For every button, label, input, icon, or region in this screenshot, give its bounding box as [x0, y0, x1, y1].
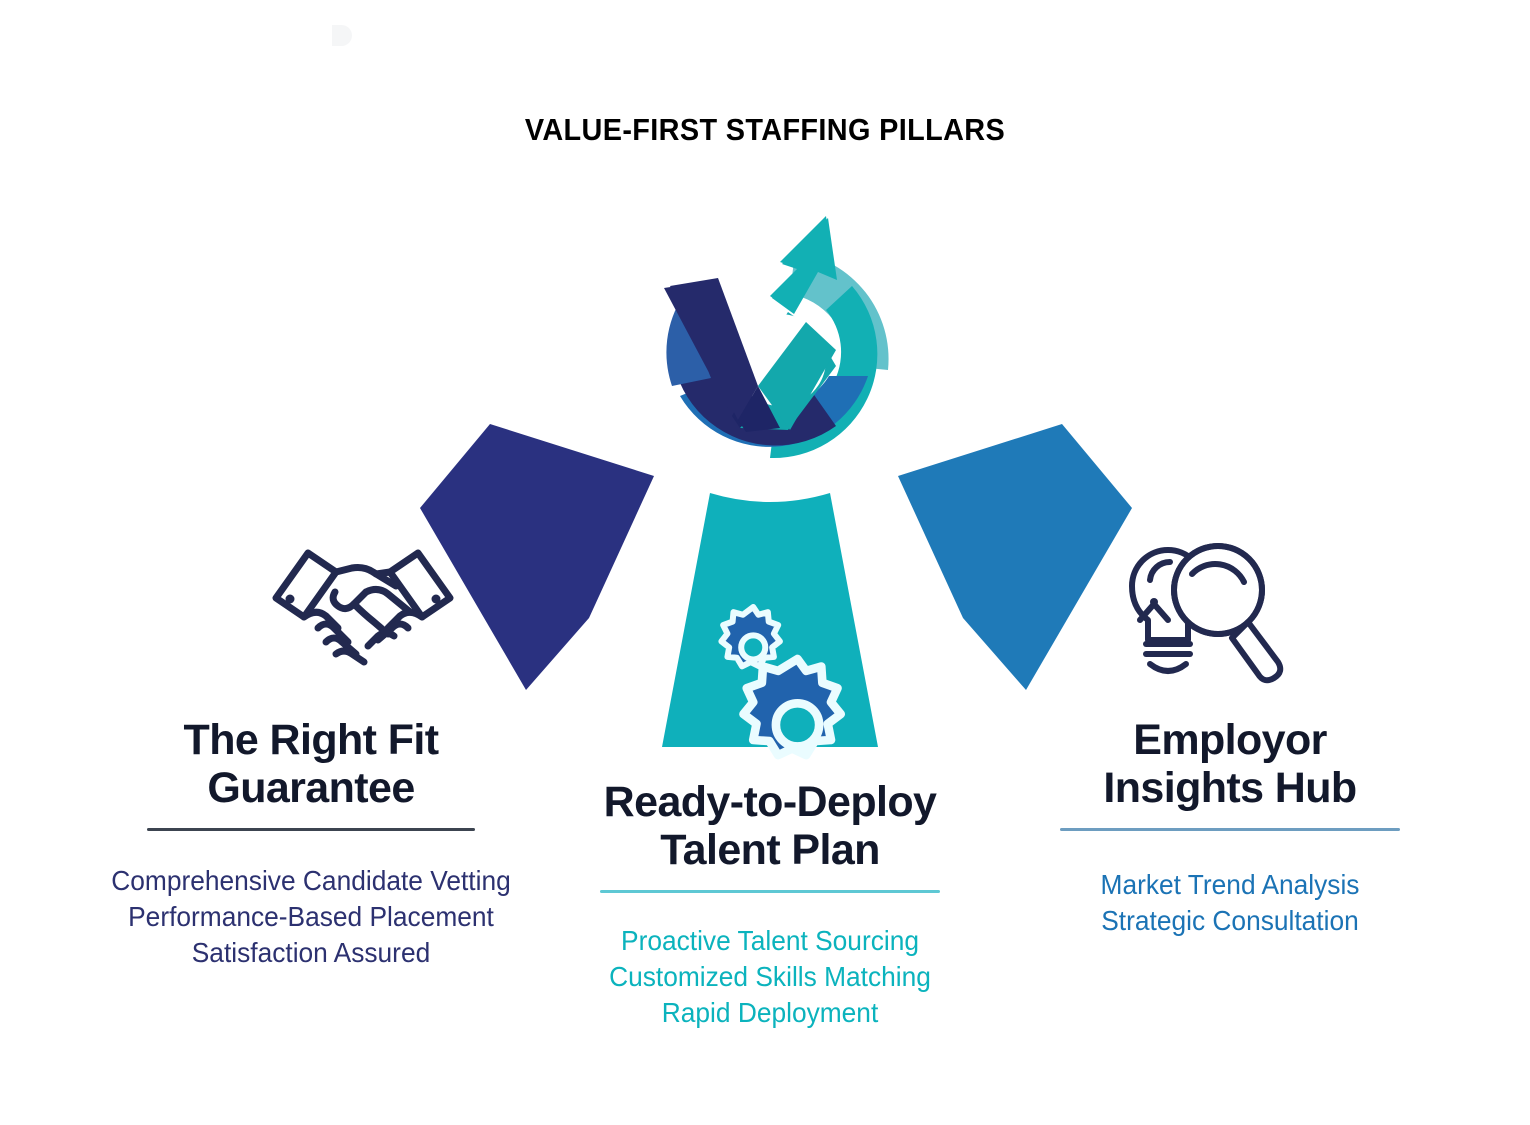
handshake-right-arm	[376, 572, 390, 574]
background-artifact	[332, 25, 352, 46]
pillar-employor-insights-heading: Employor Insights Hub	[1010, 716, 1450, 812]
body-line-1: Market Trend Analysis	[1023, 867, 1437, 903]
body-line-3: Satisfaction Assured	[92, 935, 530, 971]
lightbulb-filament-arc	[1150, 562, 1170, 580]
pillar-right-fit: The Right Fit Guarantee Comprehensive Ca…	[78, 716, 544, 971]
handshake-right-dot	[432, 595, 441, 604]
pillar-employor-insights-body: Market Trend Analysis Strategic Consulta…	[1023, 867, 1437, 939]
pillar-ready-to-deploy: Ready-to-Deploy Talent Plan Proactive Ta…	[555, 778, 985, 1031]
gear-large-hole	[776, 703, 819, 746]
pillar-employor-insights-divider	[1060, 828, 1400, 831]
heading-line-1: Ready-to-Deploy	[555, 778, 985, 826]
pillar-ready-to-deploy-divider	[600, 890, 940, 893]
handshake-svg	[268, 536, 458, 666]
lightbulb-base-3	[1150, 664, 1186, 671]
handshake-left-dot	[286, 595, 295, 604]
pillar-right-fit-heading: The Right Fit Guarantee	[78, 716, 544, 812]
body-line-2: Strategic Consultation	[1023, 903, 1437, 939]
pillar-right-fit-body: Comprehensive Candidate Vetting Performa…	[92, 863, 530, 970]
heading-line-2: Insights Hub	[1010, 764, 1450, 812]
heading-line-2: Talent Plan	[555, 826, 985, 874]
lightbulb-magnifier-icon	[1092, 524, 1292, 684]
body-line-2: Performance-Based Placement	[92, 899, 530, 935]
magnifier-handle	[1232, 622, 1280, 680]
handshake-finger-3	[336, 651, 364, 662]
heading-line-1: The Right Fit	[78, 716, 544, 764]
lightbulb-filament-dot	[1150, 598, 1158, 606]
page-title: VALUE-FIRST STAFFING PILLARS	[54, 112, 1477, 148]
handshake-left-cuff	[276, 553, 336, 617]
pillar-employor-insights: Employor Insights Hub Market Trend Analy…	[1010, 716, 1450, 939]
body-line-1: Comprehensive Candidate Vetting	[92, 863, 530, 899]
handshake-palm	[354, 604, 388, 634]
pillar-ready-to-deploy-heading: Ready-to-Deploy Talent Plan	[555, 778, 985, 874]
gear-small-hole	[741, 635, 765, 659]
pillar-right-fit-divider	[147, 828, 475, 831]
body-line-2: Customized Skills Matching	[568, 959, 972, 995]
center-trapezoid-shape	[640, 485, 900, 770]
handshake-icon	[268, 536, 458, 666]
body-line-3: Rapid Deployment	[568, 995, 972, 1031]
pillar-ready-to-deploy-body: Proactive Talent Sourcing Customized Ski…	[568, 923, 972, 1030]
lightbulb-filament-2	[1154, 604, 1168, 620]
heading-line-2: Guarantee	[78, 764, 544, 812]
body-line-1: Proactive Talent Sourcing	[568, 923, 972, 959]
infographic-canvas: VALUE-FIRST STAFFING PILLARS	[0, 0, 1530, 1125]
insights-svg	[1092, 524, 1292, 684]
heading-line-1: Employor	[1010, 716, 1450, 764]
center-trapezoid-svg	[640, 485, 900, 770]
